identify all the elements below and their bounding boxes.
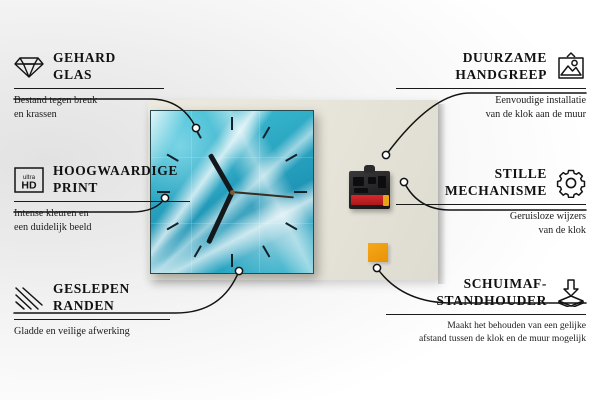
feature-title: DUURZAMEHANDGREEP — [455, 50, 547, 84]
feature-header: SCHUIMAF-STANDHOUDER — [386, 276, 586, 310]
infographic-canvas: GEHARDGLAS Bestand tegen breuken krassen… — [0, 0, 600, 400]
svg-text:HD: HD — [21, 179, 37, 191]
feature-divider — [386, 314, 586, 315]
picture-frame-hanger-icon — [556, 52, 586, 82]
feature-title: STILLEMECHANISME — [445, 166, 547, 200]
foam-spacer-pad — [368, 243, 388, 262]
feature-title: GEHARDGLAS — [53, 50, 116, 84]
feature-stille-mechanisme: STILLEMECHANISME Geruisloze wijzersvan d… — [396, 166, 586, 237]
feature-duurzame-handgreep: DUURZAMEHANDGREEP Eenvoudige installatie… — [396, 50, 586, 121]
feature-description: Intense kleuren eneen duidelijk beeld — [14, 207, 204, 234]
feature-description: Eenvoudige installatievan de klok aan de… — [396, 94, 586, 121]
movement-slot — [354, 188, 368, 193]
feature-description: Geruisloze wijzersvan de klok — [396, 210, 586, 237]
clock-center-hub — [230, 190, 235, 195]
movement-slot — [378, 176, 386, 188]
clock-tick — [294, 191, 307, 193]
movement-slot — [353, 177, 364, 186]
feature-title: HOOGWAARDIGEPRINT — [53, 163, 178, 197]
movement-slot — [368, 177, 376, 184]
beveled-edges-icon — [14, 285, 44, 311]
feature-divider — [396, 204, 586, 205]
clock-tick — [231, 117, 233, 130]
feature-gehard-glas: GEHARDGLAS Bestand tegen breuken krassen — [14, 50, 204, 121]
feature-description: Bestand tegen breuken krassen — [14, 94, 204, 121]
feature-header: DUURZAMEHANDGREEP — [396, 50, 586, 84]
movement-shaft — [364, 165, 375, 173]
press-down-pad-icon — [556, 279, 586, 307]
feature-description: Maakt het behouden van een gelijkeafstan… — [386, 320, 586, 345]
feature-header: ultra HD HOOGWAARDIGEPRINT — [14, 163, 204, 197]
feature-divider — [396, 88, 586, 89]
feature-header: GESLEPENRANDEN — [14, 281, 204, 315]
feature-schuimaf-standhouder: SCHUIMAF-STANDHOUDER Maakt het behouden … — [386, 276, 586, 345]
feature-geslepen-randen: GESLEPENRANDEN Gladde en veilige afwerki… — [14, 281, 204, 339]
feature-title: SCHUIMAF-STANDHOUDER — [436, 276, 547, 310]
feature-title: GESLEPENRANDEN — [53, 281, 130, 315]
feature-divider — [14, 201, 190, 202]
feature-description: Gladde en veilige afwerking — [14, 325, 204, 338]
ultra-hd-icon: ultra HD — [14, 166, 44, 194]
battery-terminal — [383, 195, 389, 206]
clock-movement-module — [349, 171, 390, 209]
feature-divider — [14, 319, 170, 320]
diamond-icon — [14, 54, 44, 80]
feature-divider — [14, 88, 164, 89]
feature-header: STILLEMECHANISME — [396, 166, 586, 200]
clock-grid-line — [259, 111, 260, 273]
feature-hoogwaardige-print: ultra HD HOOGWAARDIGEPRINT Intense kleur… — [14, 163, 204, 234]
feature-header: GEHARDGLAS — [14, 50, 204, 84]
gear-icon — [556, 168, 586, 198]
movement-battery — [351, 195, 384, 205]
clock-tick — [231, 254, 233, 267]
